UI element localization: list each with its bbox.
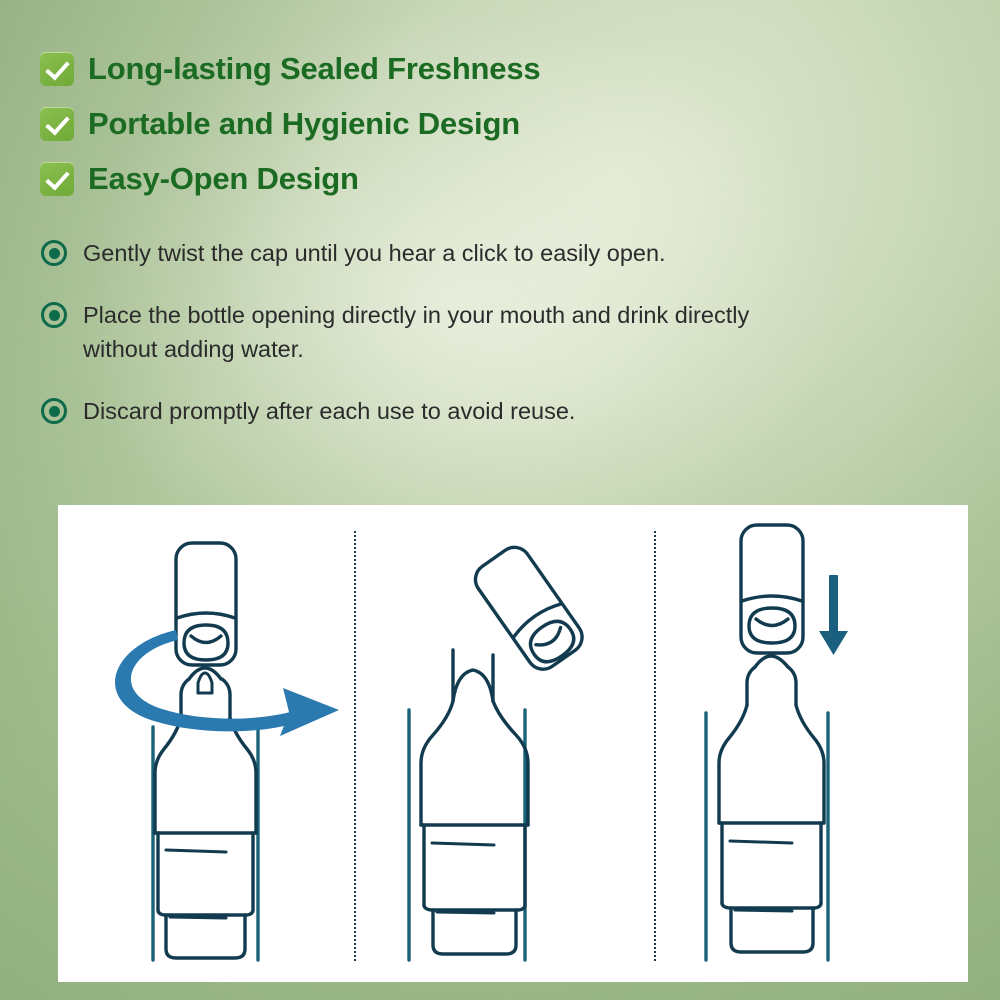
twist-cap-step [58, 505, 353, 982]
instruction-text: Discard promptly after each use to avoid… [83, 394, 575, 428]
remove-cap-illustration [353, 505, 653, 982]
instruction-list: Gently twist the cap until you hear a cl… [41, 236, 841, 456]
radio-dot-icon [41, 240, 67, 266]
feature-label: Portable and Hygienic Design [88, 108, 520, 139]
down-arrow-icon [819, 575, 848, 655]
feature-list: Long-lasting Sealed Freshness Portable a… [40, 44, 740, 209]
remove-cap-step [353, 505, 653, 982]
illustration-panel [58, 505, 968, 982]
press-cap-illustration [653, 505, 968, 982]
feature-item: Easy-Open Design [40, 154, 740, 203]
press-cap-step [653, 505, 968, 982]
instruction-item: Discard promptly after each use to avoid… [41, 394, 841, 428]
check-square-icon [40, 162, 74, 196]
panel-divider [354, 531, 356, 961]
feature-label: Easy-Open Design [88, 163, 359, 194]
panel-divider [654, 531, 656, 961]
instruction-text: Gently twist the cap until you hear a cl… [83, 236, 666, 270]
instruction-item: Place the bottle opening directly in you… [41, 298, 841, 366]
feature-item: Portable and Hygienic Design [40, 99, 740, 148]
radio-dot-icon [41, 302, 67, 328]
feature-item: Long-lasting Sealed Freshness [40, 44, 740, 93]
check-square-icon [40, 107, 74, 141]
check-square-icon [40, 52, 74, 86]
instruction-item: Gently twist the cap until you hear a cl… [41, 236, 841, 270]
twist-cap-illustration [58, 505, 353, 982]
radio-dot-icon [41, 398, 67, 424]
feature-label: Long-lasting Sealed Freshness [88, 53, 540, 84]
instruction-text: Place the bottle opening directly in you… [83, 298, 813, 366]
